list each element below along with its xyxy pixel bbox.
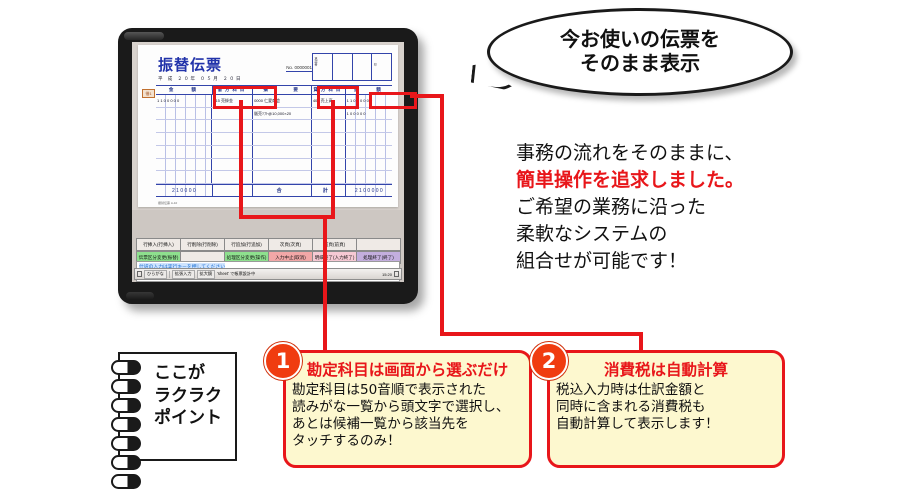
- tray-icon[interactable]: [394, 271, 399, 277]
- marketing-line-1: 事務の流れをそのままに、: [516, 140, 876, 167]
- total-label-left: 合: [253, 185, 312, 196]
- cell-debit-account[interactable]: [212, 108, 253, 120]
- highlight-box-credit-account: [317, 86, 359, 109]
- point-2-body-line-2: 同時に含まれる消費税も: [556, 399, 776, 416]
- speech-bubble: 今お使いの伝票を そのまま表示: [487, 8, 793, 96]
- form-footer-note: 振替伝票 A-10: [158, 201, 177, 205]
- cell-credit-amount[interactable]: [346, 120, 392, 132]
- point-1-number-badge: 1: [264, 342, 302, 380]
- cell-debit-account[interactable]: [212, 159, 253, 171]
- cell-debit-amount[interactable]: 1 1 0 0 0 0 0: [156, 95, 212, 107]
- cell-summary[interactable]: [253, 159, 312, 171]
- cell-credit-amount[interactable]: [346, 133, 392, 145]
- cell-debit-amount[interactable]: [156, 120, 212, 132]
- notepad-ring: [111, 455, 141, 470]
- taskbar-clock: 15:20: [382, 272, 392, 277]
- speech-bubble-line1: 今お使いの伝票を: [560, 28, 720, 52]
- point-1-body-line-3: あとは候補一覧から該当先を: [292, 416, 523, 433]
- stamp-label-3: 印: [372, 62, 378, 67]
- col-debit-amount: 金 額: [156, 86, 213, 94]
- notepad-ring: [111, 436, 141, 451]
- form-title: 振替伝票: [158, 54, 222, 75]
- cell-summary[interactable]: [253, 120, 312, 132]
- tablet-device: 振替伝票 No. 0000001 平 成 ２０年 ０５月 ２０日 承認者 印 借…: [118, 28, 418, 304]
- stamp-cell-2[interactable]: [333, 54, 353, 80]
- cell-credit-account[interactable]: [312, 171, 346, 183]
- table-row[interactable]: [156, 146, 392, 159]
- tablet-screen: 振替伝票 No. 0000001 平 成 ２０年 ０５月 ２０日 承認者 印 借…: [132, 42, 404, 282]
- cell-summary-line2: 販売ｿﾌﾄ@10,000×20: [254, 111, 291, 117]
- notepad-ring: [111, 398, 141, 413]
- notepad-line-3: ポイント: [154, 407, 231, 430]
- notepad-text: ここが ラクラク ポイント: [154, 362, 231, 430]
- ime-icon: [137, 271, 142, 277]
- cell-debit-amount[interactable]: [156, 159, 212, 171]
- callout-line-1a: [239, 100, 243, 218]
- cell-debit-account[interactable]: [212, 120, 253, 132]
- table-row[interactable]: 販売ｿﾌﾄ@10,000×20 1 0 0 0 0 0: [156, 108, 392, 121]
- taskbar-divider-1: [169, 271, 170, 278]
- cell-credit-amount[interactable]: [346, 159, 392, 171]
- point-1-body-line-2: 読みがな一覧から頭文字で選択し、: [292, 399, 523, 416]
- cell-credit-amount[interactable]: [346, 146, 392, 158]
- point-1-body: 勘定科目は50音順で表示された 読みがな一覧から頭文字で選択し、 あとは候補一覧…: [286, 382, 529, 450]
- taskbar-ime-mode[interactable]: ひらがな: [144, 270, 167, 279]
- voucher-form[interactable]: 振替伝票 No. 0000001 平 成 ２０年 ０５月 ２０日 承認者 印 借…: [138, 45, 398, 207]
- fn-add-row[interactable]: 行追加(行追加): [224, 238, 269, 251]
- fn-blank-1[interactable]: [356, 238, 401, 251]
- notepad-rings: [111, 360, 141, 493]
- notepad-ring: [111, 360, 141, 375]
- function-key-row-1: 行挿入(行挿入) 行削除(行削除) 行追加(行追加) 次頁(次頁) 前頁(前頁): [136, 238, 400, 251]
- callout-line-2-across: [410, 94, 444, 98]
- table-row[interactable]: [156, 159, 392, 172]
- form-number-value: 0000001: [294, 65, 312, 70]
- cell-debit-amount[interactable]: [156, 108, 212, 120]
- application-toolbar-area: 行挿入(行挿入) 行削除(行削除) 行追加(行追加) 次頁(次頁) 前頁(前頁)…: [132, 210, 404, 282]
- marketing-line-5: 組合せが可能です！: [516, 248, 876, 275]
- poster-root: 振替伝票 No. 0000001 平 成 ２０年 ０５月 ２０日 承認者 印 借…: [0, 0, 900, 480]
- notepad-line-1: ここが: [154, 362, 231, 385]
- form-number-label: No.: [286, 65, 293, 70]
- row-marker: 借1: [142, 89, 155, 98]
- notepad: ここが ラクラク ポイント: [118, 352, 237, 461]
- point-2-number-badge: 2: [530, 342, 568, 380]
- stamp-cell-4[interactable]: 印: [372, 54, 391, 80]
- taskbar-app-status: 'sheet' で帳票設計中: [217, 271, 255, 277]
- stamp-label-1: 承認者: [313, 56, 319, 67]
- cell-tax-amount[interactable]: 1 0 0 0 0 0: [346, 108, 392, 120]
- fn-delete-row[interactable]: 行削除(行削除): [180, 238, 225, 251]
- bezel-highlight-top: [124, 32, 164, 40]
- point-1-body-line-4: タッチするのみ！: [292, 433, 523, 450]
- stamp-cell-1[interactable]: 承認者: [313, 54, 333, 80]
- cell-credit-account[interactable]: [312, 108, 346, 120]
- taskbar-magnifier[interactable]: 拡大鏡: [197, 270, 216, 279]
- point-2-body-line-1: 税込入力時は仕訳金額と: [556, 382, 776, 399]
- cell-credit-account[interactable]: [312, 120, 346, 132]
- marketing-line-4: 柔軟なシステムの: [516, 221, 876, 248]
- marketing-copy: 事務の流れをそのままに、 簡単操作を追求しました。 ご希望の業務に沿った 柔軟な…: [516, 140, 876, 275]
- point-2-body-line-3: 自動計算して表示します！: [556, 416, 776, 433]
- speech-bubble-line2: そのまま表示: [580, 52, 700, 76]
- table-row[interactable]: [156, 133, 392, 146]
- table-row[interactable]: [156, 171, 392, 184]
- callout-line-1-bridge: [239, 215, 335, 219]
- cell-debit-account[interactable]: [212, 171, 253, 183]
- notepad-ring: [111, 474, 141, 489]
- callout-line-2-stub: [639, 332, 643, 352]
- cell-debit-amount[interactable]: [156, 146, 212, 158]
- point-panel-2: 消費税は自動計算 税込入力時は仕訳金額と 同時に含まれる消費税も 自動計算して表…: [547, 350, 785, 468]
- total-spacer-left: [213, 185, 253, 196]
- notepad-line-2: ラクラク: [154, 385, 231, 408]
- approval-stamp-box[interactable]: 承認者 印: [312, 53, 392, 81]
- stamp-cell-3[interactable]: [353, 54, 373, 80]
- point-2-body: 税込入力時は仕訳金額と 同時に含まれる消費税も 自動計算して表示します！: [550, 382, 782, 433]
- callout-line-1-drop: [323, 215, 327, 350]
- point-panel-1: 勘定科目は画面から選ぶだけ 勘定科目は50音順で表示された 読みがな一覧から頭文…: [283, 350, 532, 468]
- cell-summary[interactable]: [253, 133, 312, 145]
- taskbar-extended-input[interactable]: 拡張入力: [172, 270, 195, 279]
- cell-credit-amount[interactable]: [346, 171, 392, 183]
- callout-line-1b: [331, 100, 335, 218]
- point-1-heading: 勘定科目は画面から選ぶだけ: [286, 358, 529, 380]
- marketing-line-2-highlight: 簡単操作を追求しました。: [516, 167, 876, 194]
- table-row[interactable]: [156, 120, 392, 133]
- fn-insert-row[interactable]: 行挿入(行挿入): [136, 238, 181, 251]
- total-label-right: 計: [312, 185, 345, 196]
- point-1-body-line-1: 勘定科目は50音順で表示された: [292, 382, 523, 399]
- cell-summary[interactable]: [253, 146, 312, 158]
- total-debit-amount: 2 1 0 0 0 0: [156, 185, 213, 196]
- callout-line-2-bridge: [440, 332, 643, 336]
- cell-debit-amount[interactable]: [156, 171, 212, 183]
- cell-summary[interactable]: [253, 171, 312, 183]
- notepad-ring: [111, 417, 141, 432]
- callout-line-2-drop: [440, 94, 444, 336]
- fn-prev-page[interactable]: 前頁(前頁): [312, 238, 357, 251]
- cell-debit-account[interactable]: [212, 146, 253, 158]
- form-date: 平 成 ２０年 ０５月 ２０日: [158, 76, 243, 82]
- table-total-row: 2 1 0 0 0 0 合 計 2 1 0 0 0 0 0: [156, 184, 392, 196]
- cell-summary[interactable]: 販売ｿﾌﾄ@10,000×20: [253, 108, 312, 120]
- bezel-highlight-bottom: [126, 292, 154, 300]
- cell-credit-account[interactable]: [312, 133, 346, 145]
- windows-taskbar: ひらがな 拡張入力 拡大鏡 'sheet' で帳票設計中 15:20: [134, 268, 402, 280]
- application-screen: 振替伝票 No. 0000001 平 成 ２０年 ０５月 ２０日 承認者 印 借…: [132, 42, 404, 282]
- notepad-ring: [111, 379, 141, 394]
- cell-debit-amount[interactable]: [156, 133, 212, 145]
- fn-next-page[interactable]: 次頁(次頁): [268, 238, 313, 251]
- form-number: No. 0000001: [286, 65, 312, 72]
- highlight-box-debit-account: [213, 86, 277, 109]
- cell-credit-account[interactable]: [312, 159, 346, 171]
- marketing-line-3: ご希望の業務に沿った: [516, 194, 876, 221]
- total-label-left-text: 合: [277, 187, 288, 194]
- cell-debit-account[interactable]: [212, 133, 253, 145]
- point-2-heading: 消費税は自動計算: [550, 358, 782, 380]
- total-credit-amount: 2 1 0 0 0 0 0: [346, 185, 392, 196]
- cell-credit-account[interactable]: [312, 146, 346, 158]
